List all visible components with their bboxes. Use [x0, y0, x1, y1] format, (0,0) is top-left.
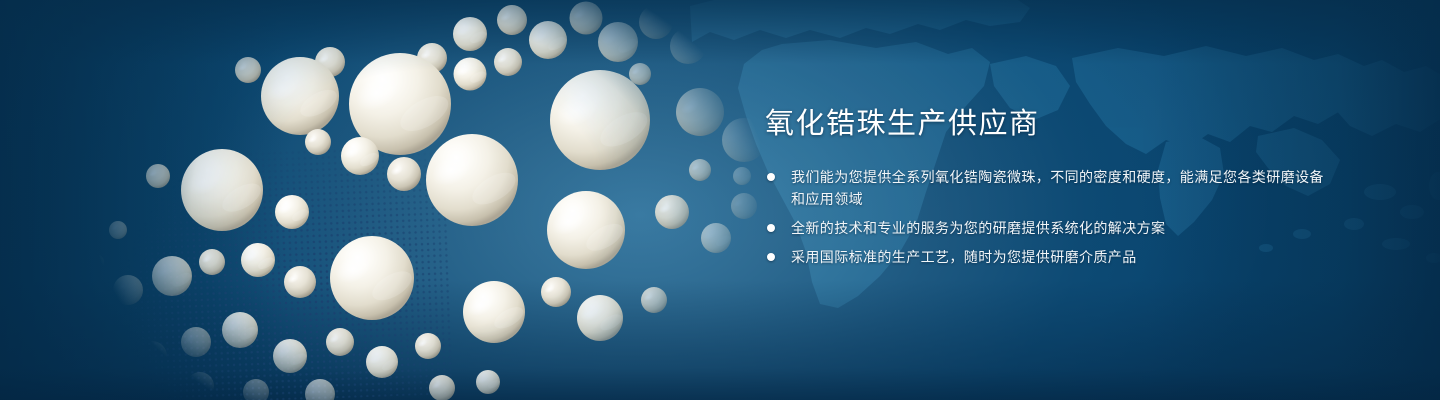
list-item-label: 采用国际标准的生产工艺，随时为您提供研磨介质产品 — [791, 246, 1325, 268]
bullet-dot-icon — [767, 253, 775, 261]
list-item-label: 我们能为您提供全系列氧化锆陶瓷微珠，不同的密度和硬度，能满足您各类研磨设备和应用… — [791, 166, 1325, 210]
list-item: 采用国际标准的生产工艺，随时为您提供研磨介质产品 — [765, 246, 1325, 268]
page-title: 氧化锆珠生产供应商 — [765, 104, 1325, 144]
list-item-label: 全新的技术和专业的服务为您的研磨提供系统化的解决方案 — [791, 217, 1325, 239]
zirconia-ceramic-beads-photo — [0, 0, 760, 400]
list-item: 全新的技术和专业的服务为您的研磨提供系统化的解决方案 — [765, 217, 1325, 239]
feature-list: 我们能为您提供全系列氧化锆陶瓷微珠，不同的密度和硬度，能满足您各类研磨设备和应用… — [765, 166, 1325, 268]
list-item: 我们能为您提供全系列氧化锆陶瓷微珠，不同的密度和硬度，能满足您各类研磨设备和应用… — [765, 166, 1325, 210]
bullet-dot-icon — [767, 224, 775, 232]
bullet-dot-icon — [767, 173, 775, 181]
hero-banner: 氧化锆珠生产供应商 我们能为您提供全系列氧化锆陶瓷微珠，不同的密度和硬度，能满足… — [0, 0, 1440, 400]
banner-content: 氧化锆珠生产供应商 我们能为您提供全系列氧化锆陶瓷微珠，不同的密度和硬度，能满足… — [765, 104, 1325, 268]
